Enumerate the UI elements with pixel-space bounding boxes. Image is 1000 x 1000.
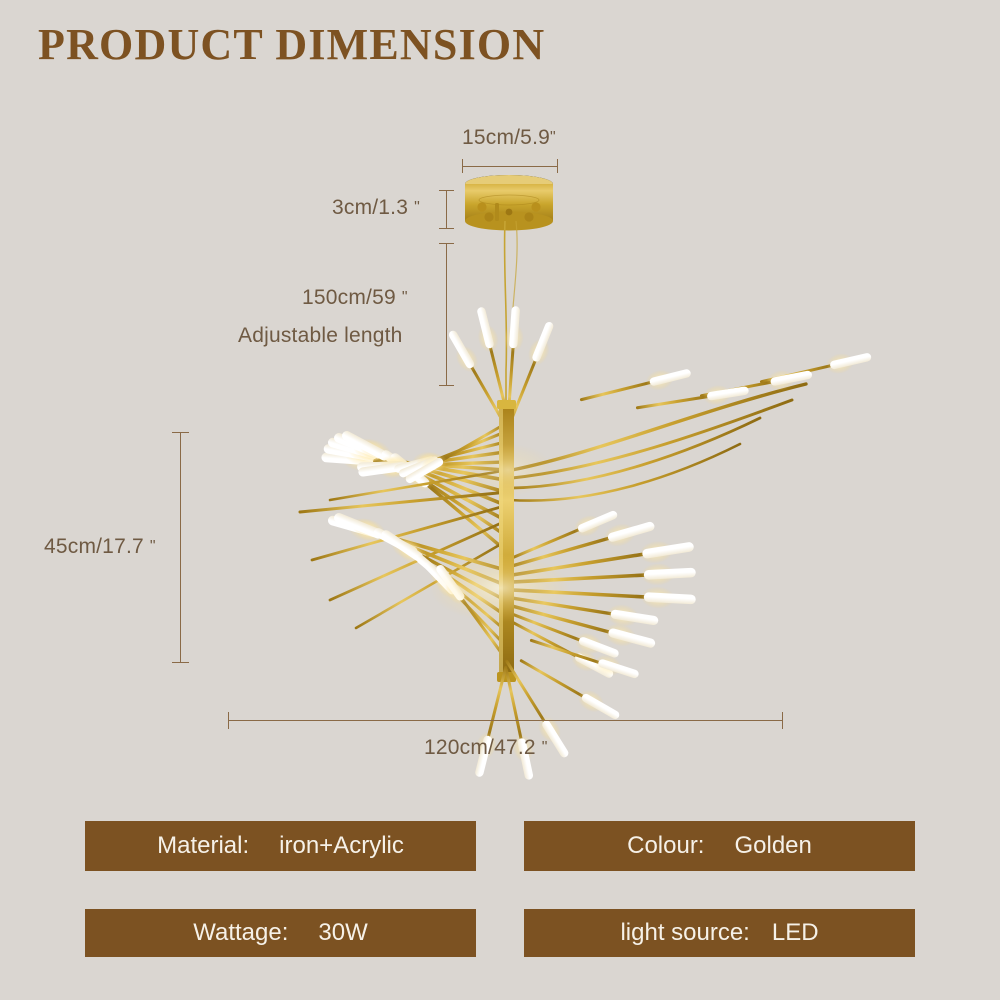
spec-colour-key: Colour: — [627, 832, 704, 860]
dim-cord-length-tick-top — [439, 243, 454, 244]
dim-cord-length-line — [446, 243, 447, 385]
dim-cord-length-note: Adjustable length — [238, 324, 403, 348]
dim-fixture-width-label: 120cm/47.2 " — [424, 736, 548, 760]
dim-cord-length-tick-bottom — [439, 385, 454, 386]
spec-material: Material: iron+Acrylic — [85, 821, 476, 871]
ceiling-canopy — [465, 175, 553, 231]
dim-canopy-height-tick-bottom — [439, 228, 454, 229]
spec-light-source-key: light source: — [620, 919, 749, 947]
chandelier-body — [300, 305, 873, 782]
spec-colour-value: Golden — [734, 832, 811, 860]
dim-canopy-height-label: 3cm/1.3 " — [332, 196, 420, 220]
spec-wattage-key: Wattage: — [193, 919, 288, 947]
center-column — [497, 400, 516, 682]
dim-fixture-height-label: 45cm/17.7 " — [44, 535, 156, 559]
dim-fixture-width-tick-left — [228, 712, 229, 729]
suspension-cable — [505, 221, 518, 404]
spec-light-source: light source: LED — [524, 909, 915, 957]
dim-canopy-width-line — [462, 166, 558, 167]
dim-fixture-height-line — [180, 432, 181, 663]
dim-fixture-width-tick-right — [782, 712, 783, 729]
dim-canopy-width-label: 15cm/5.9" — [462, 126, 556, 150]
dim-canopy-width-tick-right — [557, 159, 558, 173]
spec-wattage: Wattage: 30W — [85, 909, 476, 957]
dim-canopy-height-line — [446, 190, 447, 228]
dim-fixture-width-line — [228, 720, 783, 721]
dim-canopy-width-tick-left — [462, 159, 463, 173]
spec-material-value: iron+Acrylic — [279, 832, 404, 860]
spec-wattage-value: 30W — [318, 919, 367, 947]
dim-fixture-height-tick-bottom — [172, 662, 189, 663]
page-title: PRODUCT DIMENSION — [38, 19, 545, 70]
spec-light-source-value: LED — [772, 919, 819, 947]
spec-material-key: Material: — [157, 832, 249, 860]
spec-colour: Colour: Golden — [524, 821, 915, 871]
dim-fixture-height-tick-top — [172, 432, 189, 433]
product-dimension-infographic: PRODUCT DIMENSION — [0, 0, 1000, 1000]
dim-canopy-height-tick-top — [439, 190, 454, 191]
dim-cord-length-label: 150cm/59 " — [302, 286, 408, 310]
